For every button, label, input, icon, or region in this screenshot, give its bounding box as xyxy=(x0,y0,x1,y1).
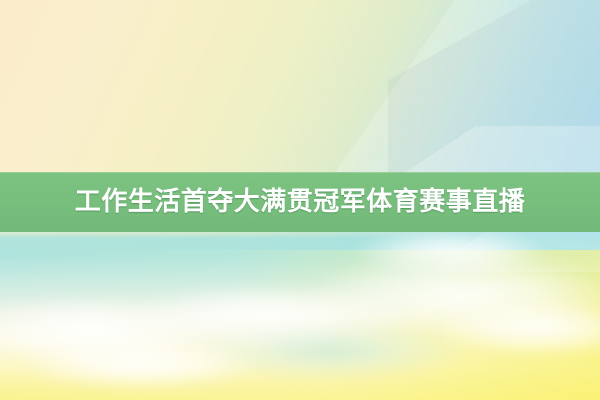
cloud-shape xyxy=(190,322,470,380)
diagonal-wedge-shape xyxy=(388,0,600,175)
banner-graphic: 工作生活首夺大满贯冠军体育赛事直播 xyxy=(0,0,600,400)
diagonal-wedge-shape xyxy=(430,232,600,272)
cloud-shape xyxy=(300,252,600,338)
banner-title: 工作生活首夺大满贯冠军体育赛事直播 xyxy=(75,189,526,215)
cloud-shape xyxy=(20,338,260,390)
cloud-shape xyxy=(350,228,550,276)
sky-warm-overlay xyxy=(0,250,600,400)
diagonal-wedge-shape xyxy=(330,0,600,180)
cloud-shape xyxy=(120,284,420,346)
diagonal-wedge-shape xyxy=(396,126,600,178)
cloud-shape xyxy=(0,296,220,366)
title-band: 工作生活首夺大满贯冠军体育赛事直播 xyxy=(0,172,600,232)
cloud-shape xyxy=(430,300,600,356)
sky-gradient xyxy=(0,228,600,400)
